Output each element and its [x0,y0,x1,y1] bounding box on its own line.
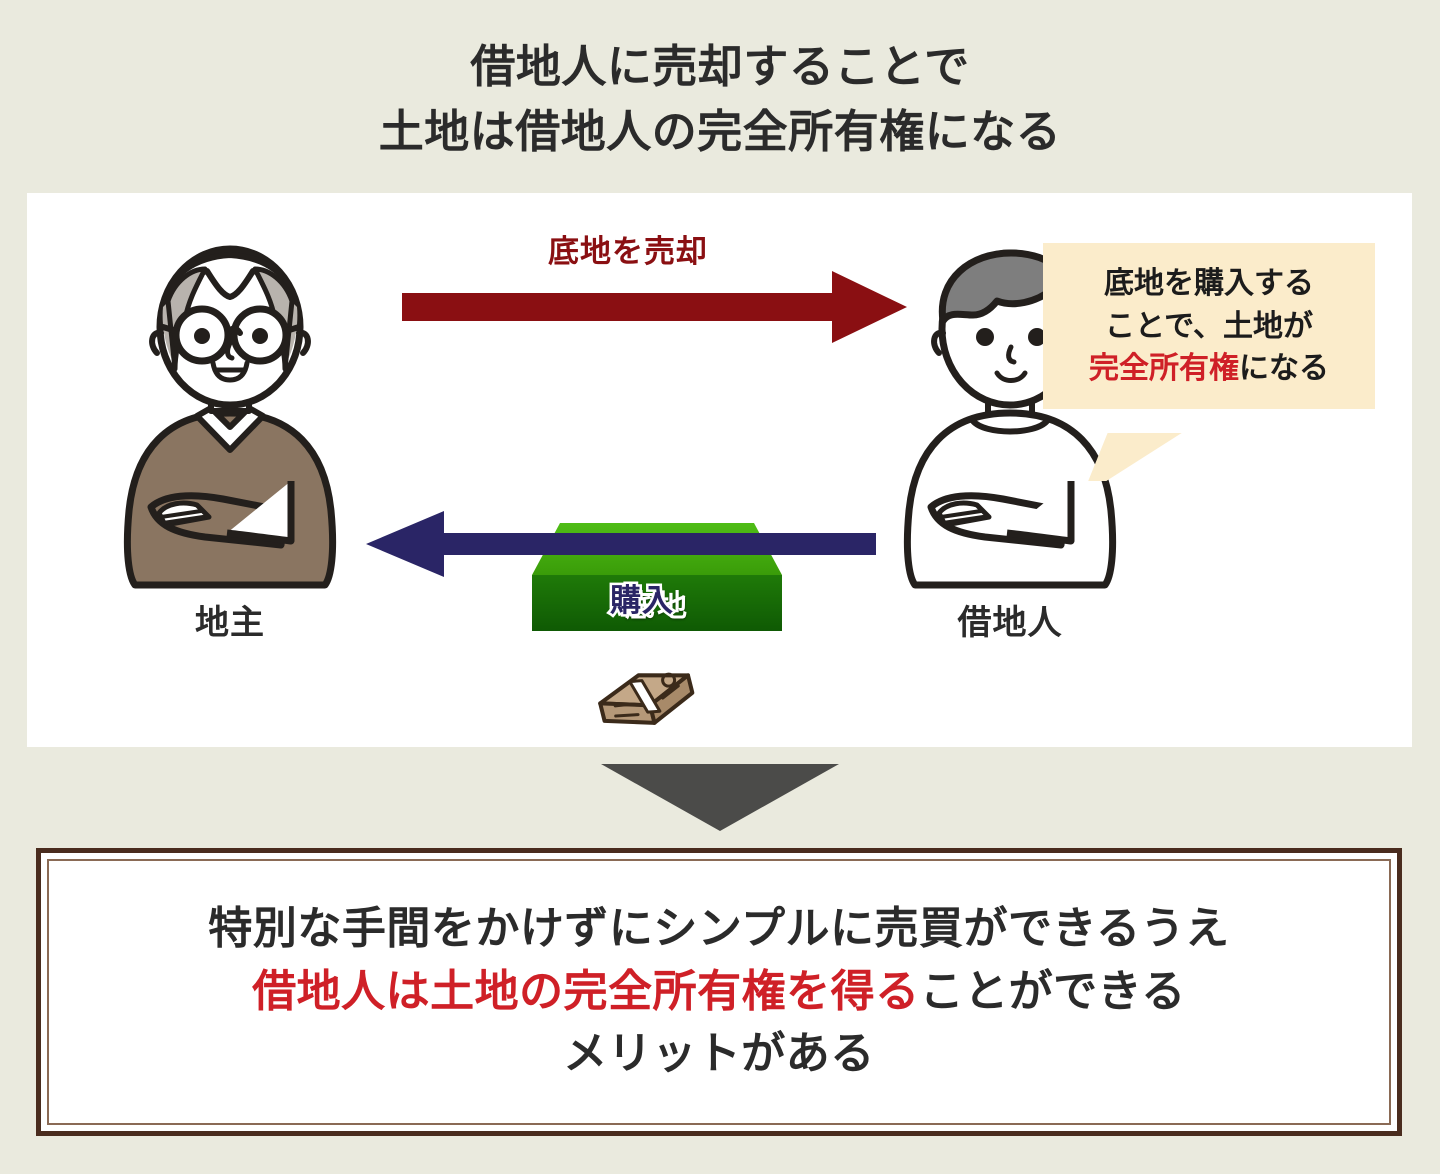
sell-arrow [402,271,912,348]
bubble-line-2: ことで、土地が [1053,306,1365,349]
conclusion-line-3: メリットがある [208,1023,1229,1085]
tenant-label: 借地人 [880,595,1140,644]
bubble-line-1: 底地を購入する [1053,263,1365,306]
infographic-root: 借地人に売却することで 土地は借地人の完全所有権になる [0,0,1440,1174]
conclusion-line-2: 借地人は土地の完全所有権を得ることができる [208,961,1229,1023]
bubble-line-3: 完全所有権になる [1053,348,1365,391]
conclusion-line-2-rest: ことができる [920,967,1186,1016]
buy-arrow-icon [366,511,876,577]
buy-arrow [366,511,876,582]
page-title: 借地人に売却することで 土地は借地人の完全所有権になる [0,34,1440,165]
landlord-label: 地主 [100,595,360,644]
buy-arrow-label: 購入 [610,575,674,620]
tenant-speech-bubble: 底地を購入する ことで、土地が 完全所有権になる [1043,243,1375,409]
money-icon-wrap [595,666,699,741]
conclusion-box-inner: 特別な手間をかけずにシンプルに売買ができるうえ 借地人は土地の完全所有権を得るこ… [47,859,1391,1125]
down-triangle-arrow [601,764,839,831]
bubble-highlight: 完全所有権 [1089,352,1239,385]
sell-arrow-icon [402,271,912,343]
conclusion-text: 特別な手間をかけずにシンプルに売買ができるうえ 借地人は土地の完全所有権を得るこ… [208,898,1229,1085]
elderly-landlord-illustration [105,245,355,605]
conclusion-line-1: 特別な手間をかけずにシンプルに売買ができるうえ [208,898,1229,960]
sell-arrow-label: 底地を売却 [548,226,708,271]
conclusion-highlight: 借地人は土地の完全所有権を得る [252,967,920,1016]
page-title-line-1: 借地人に売却することで [0,34,1440,99]
landlord-figure: 地主 [105,245,355,610]
bubble-line-3-rest: になる [1239,352,1329,385]
page-title-line-2: 土地は借地人の完全所有権になる [0,99,1440,164]
money-bundle-icon [595,666,699,736]
conclusion-box: 特別な手間をかけずにシンプルに売買ができるうえ 借地人は土地の完全所有権を得るこ… [36,848,1402,1136]
